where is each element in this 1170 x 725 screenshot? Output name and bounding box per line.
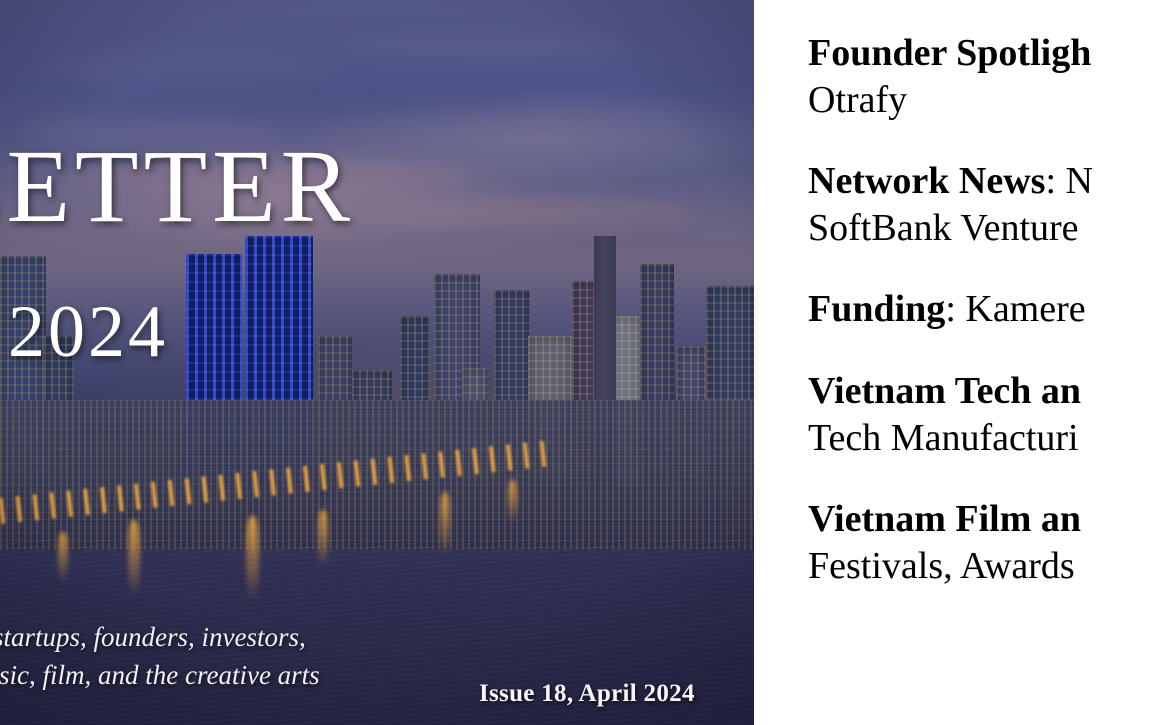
table-of-contents: Founder Spotligh Otrafy Network News: N … — [808, 30, 1170, 590]
toc-heading: Founder Spotligh — [808, 30, 1170, 77]
toc-heading-rest: : Kamere — [945, 288, 1085, 330]
toc-heading: Funding: Kamere — [808, 286, 1170, 333]
toc-entry-vietnam-film[interactable]: Vietnam Film an Festivals, Awards — [808, 496, 1170, 590]
toc-entry-funding[interactable]: Funding: Kamere — [808, 286, 1170, 333]
toc-entry-vietnam-tech[interactable]: Vietnam Tech an Tech Manufacturi — [808, 368, 1170, 462]
cover-tagline-line-2: music, film, and the creative arts — [0, 656, 320, 694]
toc-heading: Network News: N — [808, 158, 1170, 205]
toc-entry-network-news[interactable]: Network News: N SoftBank Venture — [808, 158, 1170, 252]
cover-tagline: h, startups, founders, investors, music,… — [0, 618, 320, 695]
contents-panel: Founder Spotligh Otrafy Network News: N … — [754, 0, 1170, 725]
toc-heading: Vietnam Film an — [808, 496, 1170, 543]
toc-entry-founder-spotlight[interactable]: Founder Spotligh Otrafy — [808, 30, 1170, 124]
toc-heading-rest: : N — [1045, 160, 1093, 202]
cover-title: LETTER — [0, 135, 355, 239]
cover-image-panel: LETTER 2024 h, startups, founders, inves… — [0, 0, 754, 725]
issue-label: Issue 18, April 2024 — [479, 680, 695, 708]
cover-tagline-line-1: h, startups, founders, investors, — [0, 618, 320, 656]
toc-continuation: Festivals, Awards — [808, 543, 1170, 590]
toc-heading-lead: Vietnam Film an — [808, 498, 1081, 540]
light-reflection — [508, 480, 517, 524]
toc-heading: Vietnam Tech an — [808, 368, 1170, 415]
toc-heading-lead: Funding — [808, 288, 945, 330]
toc-continuation: Tech Manufacturi — [808, 415, 1170, 462]
toc-continuation: Otrafy — [808, 77, 1170, 124]
toc-heading-lead: Founder Spotligh — [808, 32, 1091, 74]
toc-heading-lead: Network News — [808, 160, 1045, 202]
toc-continuation: SoftBank Venture — [808, 205, 1170, 252]
newsletter-cover-page: LETTER 2024 h, startups, founders, inves… — [0, 0, 1170, 725]
cover-year: 2024 — [8, 295, 168, 369]
toc-heading-lead: Vietnam Tech an — [808, 370, 1081, 412]
